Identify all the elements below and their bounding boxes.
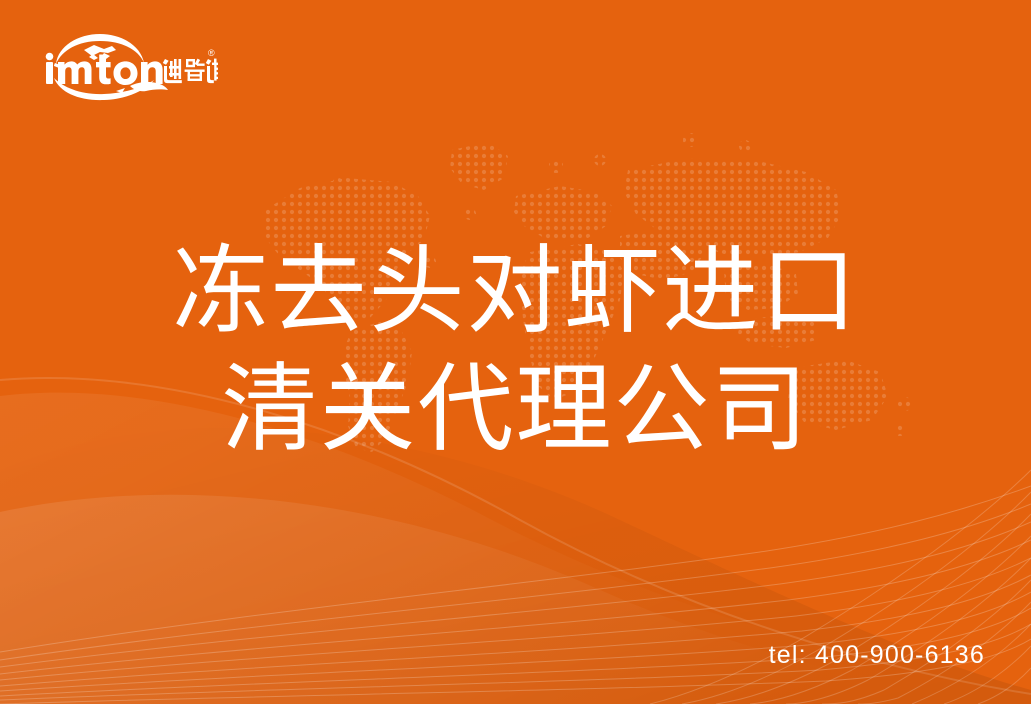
trademark-symbol: ® <box>208 48 215 58</box>
brand-logo[interactable]: ® <box>38 30 218 102</box>
promo-banner: ® 冻去头对虾进口 清关代理公司 tel: 400-900-6136 <box>0 0 1031 704</box>
headline: 冻去头对虾进口 清关代理公司 <box>0 232 1031 468</box>
headline-line-2: 清关代理公司 <box>0 350 1031 468</box>
contact-phone[interactable]: tel: 400-900-6136 <box>769 641 985 670</box>
logo-wordmark-chinese <box>163 59 218 84</box>
swoosh-fish-icon <box>54 78 168 100</box>
logo-wordmark-latin <box>46 53 163 85</box>
headline-line-1: 冻去头对虾进口 <box>0 232 1031 350</box>
